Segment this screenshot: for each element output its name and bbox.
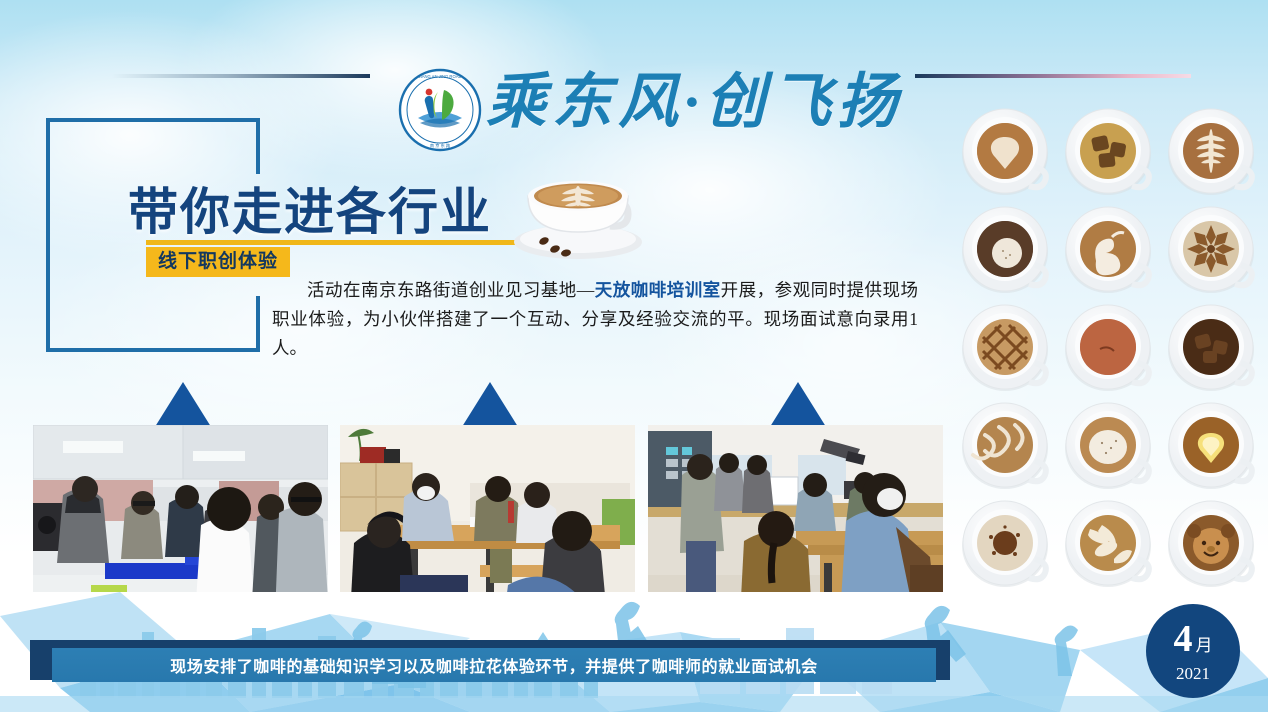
svg-text:JIANG AN JING ROAD: JIANG AN JING ROAD: [418, 74, 461, 79]
date-month-unit: 月: [1196, 637, 1213, 654]
slide-canvas: JIANG AN JING ROAD 南 京 东 路 乘东风·创飞扬 带你走进各…: [0, 0, 1268, 712]
date-month-number: 4: [1174, 620, 1193, 658]
header-divider-left: [112, 74, 370, 78]
header-title: 乘东风·创飞扬: [486, 60, 906, 144]
photo-presentation[interactable]: [648, 425, 943, 617]
date-badge: 4 月 2021: [1146, 604, 1240, 698]
page-title: 带你走进各行业: [128, 172, 492, 244]
paragraph-highlight: 天放咖啡培训室: [594, 280, 720, 300]
photo-group-discussion[interactable]: [340, 425, 635, 617]
svg-text:南 京 东 路: 南 京 东 路: [430, 142, 451, 149]
photo-coffee-bar-demo[interactable]: [33, 425, 328, 617]
date-year: 2021: [1176, 665, 1210, 682]
triangle-marker-1: [153, 382, 213, 430]
gold-underline: [146, 240, 516, 245]
body-paragraph: 活动在南京东路街道创业见习基地—天放咖啡培训室开展，参观同时提供现场职业体验，为…: [272, 276, 918, 363]
triangle-marker-2: [460, 382, 520, 430]
caption-bar: 现场安排了咖啡的基础知识学习以及咖啡拉花体验环节，并提供了咖啡师的就业面试机会: [52, 648, 936, 682]
header-divider-right: [915, 74, 1191, 78]
latte-cup-with-leaf-art-icon: [498, 158, 658, 263]
latte-art-cup-grid: [958, 104, 1258, 592]
subtitle-badge: 线下职创体验: [146, 247, 290, 277]
triangle-marker-3: [768, 382, 828, 430]
nanjing-east-road-subdistrict-emblem: JIANG AN JING ROAD 南 京 东 路: [398, 68, 482, 152]
caption-text: 现场安排了咖啡的基础知识学习以及咖啡拉花体验环节，并提供了咖啡师的就业面试机会: [170, 653, 817, 677]
paragraph-pre: 活动在南京东路街道创业见习基地—: [307, 280, 594, 300]
